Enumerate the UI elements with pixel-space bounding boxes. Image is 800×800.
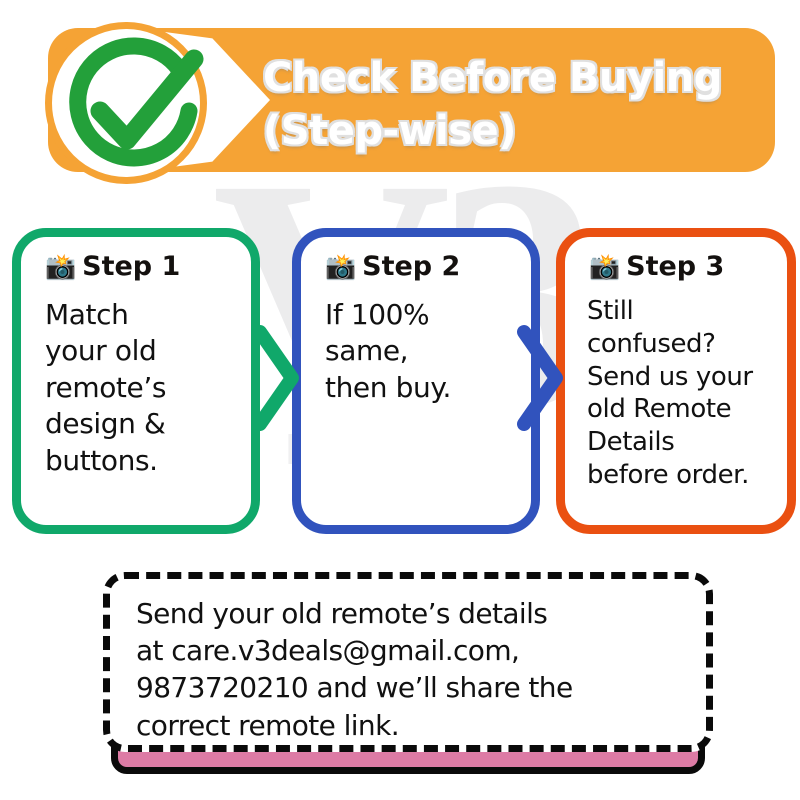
step-2-header: 📸 Step 2 xyxy=(325,251,460,282)
step-3-label: Step 3 xyxy=(626,251,724,282)
chevron-right-icon xyxy=(248,322,304,439)
page-title: Check Before Buying (Step-wise) xyxy=(263,52,768,158)
step-2-label: Step 2 xyxy=(362,251,460,282)
camera-with-flash-icon: 📸 xyxy=(325,254,356,279)
note-box: Send your old remote’s details at care.v… xyxy=(103,572,713,752)
chevron-right-icon xyxy=(512,322,568,439)
step-1-label: Step 1 xyxy=(82,251,180,282)
infographic-canvas: V3 DEALS Check Before Buying (Step-wise)… xyxy=(0,0,800,800)
step-2-body: If 100% same, then buy. xyxy=(325,297,521,406)
contact-note[interactable]: Send your old remote’s details at care.v… xyxy=(103,572,713,784)
step-1-body: Match your old remote’s design & buttons… xyxy=(45,297,241,479)
camera-with-flash-icon: 📸 xyxy=(45,254,76,279)
page-title-line-2: (Step-wise) xyxy=(263,105,768,158)
step-card-1[interactable]: 📸 Step 1 Match your old remote’s design … xyxy=(12,228,260,534)
check-badge xyxy=(45,22,207,184)
step-card-3[interactable]: 📸 Step 3 Still confused? Send us your ol… xyxy=(556,228,796,534)
step-3-body: Still confused? Send us your old Remote … xyxy=(587,295,777,492)
camera-with-flash-icon: 📸 xyxy=(589,254,620,279)
page-title-line-1: Check Before Buying xyxy=(263,52,768,105)
step-1-header: 📸 Step 1 xyxy=(45,251,180,282)
step-3-header: 📸 Step 3 xyxy=(589,251,724,282)
step-card-2[interactable]: 📸 Step 2 If 100% same, then buy. xyxy=(292,228,540,534)
note-text: Send your old remote’s details at care.v… xyxy=(136,595,702,744)
